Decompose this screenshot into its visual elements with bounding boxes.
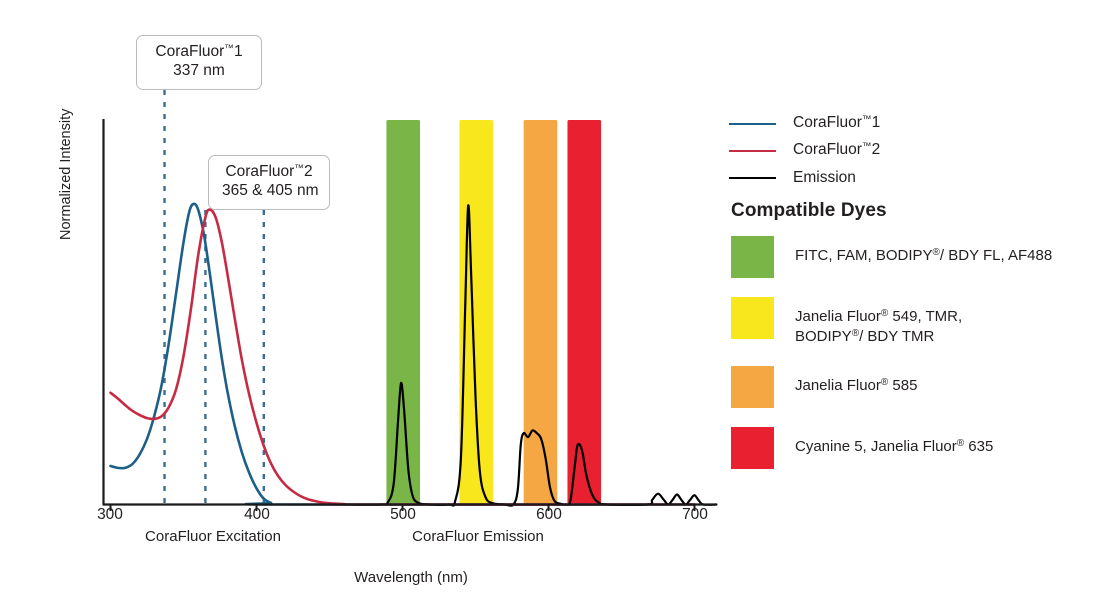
registered-icon: ® <box>933 247 940 258</box>
dye-label: Janelia Fluor® 585 <box>795 366 917 396</box>
dye-band-0 <box>386 120 420 505</box>
dye-color-swatch <box>731 427 774 469</box>
region-label-emission: CoraFluor Emission <box>412 528 544 545</box>
legend-label: CoraFluor™2 <box>793 141 880 159</box>
dye-band-group <box>386 120 601 505</box>
legend-label: CoraFluor™1 <box>793 114 880 132</box>
series-legend: CoraFluor™1CoraFluor™2Emission <box>729 110 1104 191</box>
trademark-icon: ™ <box>294 163 304 174</box>
x-tick-500: 500 <box>373 506 433 524</box>
x-tick-600: 600 <box>519 506 579 524</box>
compatible-dyes-list: FITC, FAM, BODIPY®/ BDY FL, AF488Janelia… <box>731 236 1106 488</box>
legend-row-1: CoraFluor™2 <box>729 137 1104 164</box>
x-tick-300: 300 <box>80 506 140 524</box>
registered-icon: ® <box>881 308 888 319</box>
dye-color-swatch <box>731 297 774 339</box>
dye-color-swatch <box>731 236 774 278</box>
legend-line-swatch <box>729 177 776 179</box>
callout-corafluor1-title: CoraFluor™1 <box>150 43 248 62</box>
callout-corafluor2-index: 2 <box>304 163 313 180</box>
trademark-icon: ™ <box>862 141 872 152</box>
registered-icon: ® <box>852 328 859 339</box>
legend-label-name: CoraFluor <box>793 142 862 159</box>
legend-line-swatch <box>729 150 776 152</box>
trademark-icon: ™ <box>862 114 872 125</box>
registered-icon: ® <box>957 438 964 449</box>
dye-color-swatch <box>731 366 774 408</box>
legend-label-index: 1 <box>872 115 881 132</box>
legend-label-name: CoraFluor <box>793 115 862 132</box>
legend-label-index: 2 <box>872 142 881 159</box>
callout-corafluor2-wavelength: 365 & 405 nm <box>222 182 316 201</box>
legend-row-2: Emission <box>729 164 1104 191</box>
dye-list-item-1: Janelia Fluor® 549, TMR, BODIPY®/ BDY TM… <box>731 297 1106 347</box>
dye-list-item-2: Janelia Fluor® 585 <box>731 366 1106 408</box>
dye-label: FITC, FAM, BODIPY®/ BDY FL, AF488 <box>795 236 1052 266</box>
compatible-dyes-title: Compatible Dyes <box>731 200 887 222</box>
callout-corafluor1-index: 1 <box>234 43 243 60</box>
x-axis-title: Wavelength (nm) <box>354 569 468 586</box>
dye-list-item-0: FITC, FAM, BODIPY®/ BDY FL, AF488 <box>731 236 1106 278</box>
callout-corafluor1-name: CoraFluor <box>155 43 224 60</box>
dye-band-2 <box>524 120 558 505</box>
callout-corafluor2-name: CoraFluor <box>225 163 294 180</box>
legend-row-0: CoraFluor™1 <box>729 110 1104 137</box>
callout-corafluor1-wavelength: 337 nm <box>150 62 248 81</box>
dye-band-3 <box>567 120 601 505</box>
callout-corafluor2-title: CoraFluor™2 <box>222 163 316 182</box>
x-tick-700: 700 <box>665 506 725 524</box>
y-axis-title: Normalized Intensity <box>58 109 74 240</box>
dye-label: Cyanine 5, Janelia Fluor® 635 <box>795 427 993 457</box>
registered-icon: ® <box>881 377 888 388</box>
legend-label-name: Emission <box>793 169 856 186</box>
trademark-icon: ™ <box>224 43 234 54</box>
x-tick-400: 400 <box>227 506 287 524</box>
legend-label: Emission <box>793 169 856 187</box>
callout-corafluor2: CoraFluor™2 365 & 405 nm <box>208 155 330 210</box>
callout-corafluor1: CoraFluor™1 337 nm <box>136 35 262 90</box>
region-label-excitation: CoraFluor Excitation <box>145 528 281 545</box>
legend-line-swatch <box>729 123 776 125</box>
spectra-figure: CoraFluor™1 337 nm CoraFluor™2 365 & 405… <box>0 0 1110 612</box>
dye-label: Janelia Fluor® 549, TMR, BODIPY®/ BDY TM… <box>795 297 962 347</box>
dye-list-item-3: Cyanine 5, Janelia Fluor® 635 <box>731 427 1106 469</box>
